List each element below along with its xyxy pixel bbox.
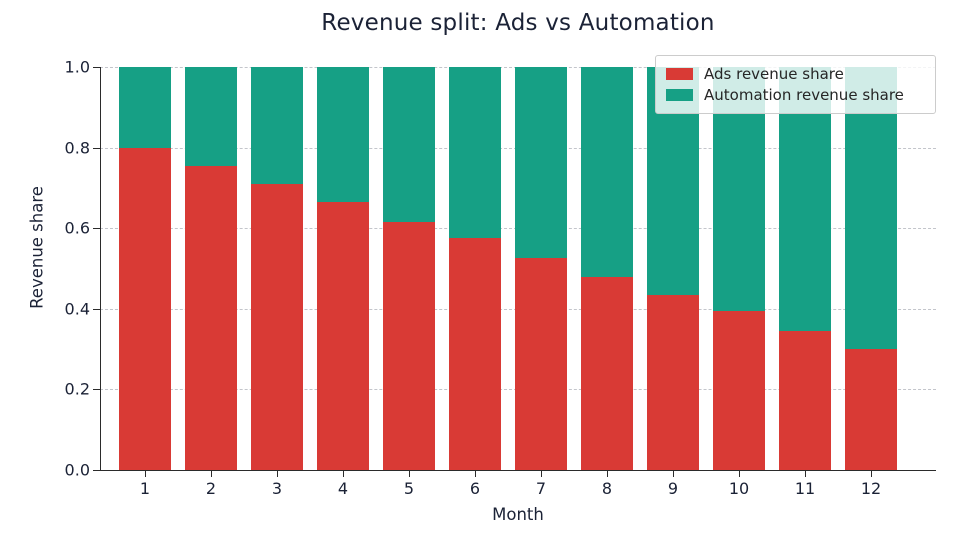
bar-series-container [100,67,936,470]
x-tick-label: 6 [445,479,505,498]
x-tick-label: 2 [181,479,241,498]
plot-area [100,67,936,470]
y-tick-mark [93,309,100,310]
bar-group[interactable] [251,67,303,470]
bar-group[interactable] [647,67,699,470]
x-tick-label: 5 [379,479,439,498]
x-tick-label: 1 [115,479,175,498]
x-axis-label: Month [100,505,936,524]
bar-segment-automation[interactable] [383,67,435,222]
x-tick-label: 12 [841,479,901,498]
x-tick-mark [475,470,476,477]
x-tick-mark [607,470,608,477]
y-tick-label: 0.2 [12,380,90,399]
legend-swatch-icon [666,89,693,101]
bar-group[interactable] [185,67,237,470]
x-tick-mark [739,470,740,477]
bar-segment-ads[interactable] [515,258,567,470]
bar-group[interactable] [713,67,765,470]
bar-segment-ads[interactable] [251,184,303,470]
x-tick-mark [277,470,278,477]
x-tick-mark [211,470,212,477]
bar-segment-ads[interactable] [581,277,633,470]
legend-item[interactable]: Automation revenue share [666,84,925,105]
bar-group[interactable] [581,67,633,470]
x-tick-label: 9 [643,479,703,498]
bar-segment-ads[interactable] [383,222,435,470]
y-tick-mark [93,228,100,229]
bar-group[interactable] [383,67,435,470]
x-axis-line [100,470,936,471]
x-tick-label: 11 [775,479,835,498]
legend-swatch-icon [666,68,693,80]
y-axis-line [100,67,101,470]
x-tick-mark [871,470,872,477]
x-tick-label: 3 [247,479,307,498]
y-tick-mark [93,148,100,149]
x-tick-label: 8 [577,479,637,498]
chart-legend: Ads revenue shareAutomation revenue shar… [655,55,936,114]
x-tick-mark [145,470,146,477]
legend-item-label: Ads revenue share [704,65,844,83]
bar-segment-automation[interactable] [581,67,633,277]
bar-segment-ads[interactable] [119,148,171,470]
x-tick-mark [343,470,344,477]
y-tick-label: 1.0 [12,58,90,77]
bar-group[interactable] [449,67,501,470]
y-tick-label: 0.6 [12,219,90,238]
bar-group[interactable] [515,67,567,470]
y-tick-label: 0.8 [12,138,90,157]
bar-segment-automation[interactable] [185,67,237,166]
x-tick-label: 10 [709,479,769,498]
x-tick-label: 4 [313,479,373,498]
bar-segment-automation[interactable] [119,67,171,148]
y-tick-mark [93,67,100,68]
chart-figure: Revenue split: Ads vs Automation 0.00.20… [0,0,960,540]
bar-segment-ads[interactable] [647,295,699,470]
legend-item[interactable]: Ads revenue share [666,63,925,84]
x-tick-label: 7 [511,479,571,498]
x-tick-mark [541,470,542,477]
bar-group[interactable] [779,67,831,470]
bar-group[interactable] [317,67,369,470]
bar-segment-ads[interactable] [449,238,501,470]
x-tick-mark [673,470,674,477]
bar-segment-ads[interactable] [779,331,831,470]
bar-segment-ads[interactable] [317,202,369,470]
bar-group[interactable] [119,67,171,470]
legend-item-label: Automation revenue share [704,86,904,104]
bar-group[interactable] [845,67,897,470]
x-tick-mark [805,470,806,477]
bar-segment-ads[interactable] [845,349,897,470]
y-axis-label: Revenue share [28,48,47,448]
y-tick-mark [93,470,100,471]
bar-segment-ads[interactable] [713,311,765,470]
chart-title: Revenue split: Ads vs Automation [100,10,936,36]
bar-segment-automation[interactable] [515,67,567,258]
y-tick-label: 0.4 [12,299,90,318]
bar-segment-ads[interactable] [185,166,237,470]
bar-segment-automation[interactable] [449,67,501,238]
x-tick-mark [409,470,410,477]
y-tick-label: 0.0 [12,461,90,480]
y-tick-mark [93,389,100,390]
bar-segment-automation[interactable] [317,67,369,202]
bar-segment-automation[interactable] [251,67,303,184]
